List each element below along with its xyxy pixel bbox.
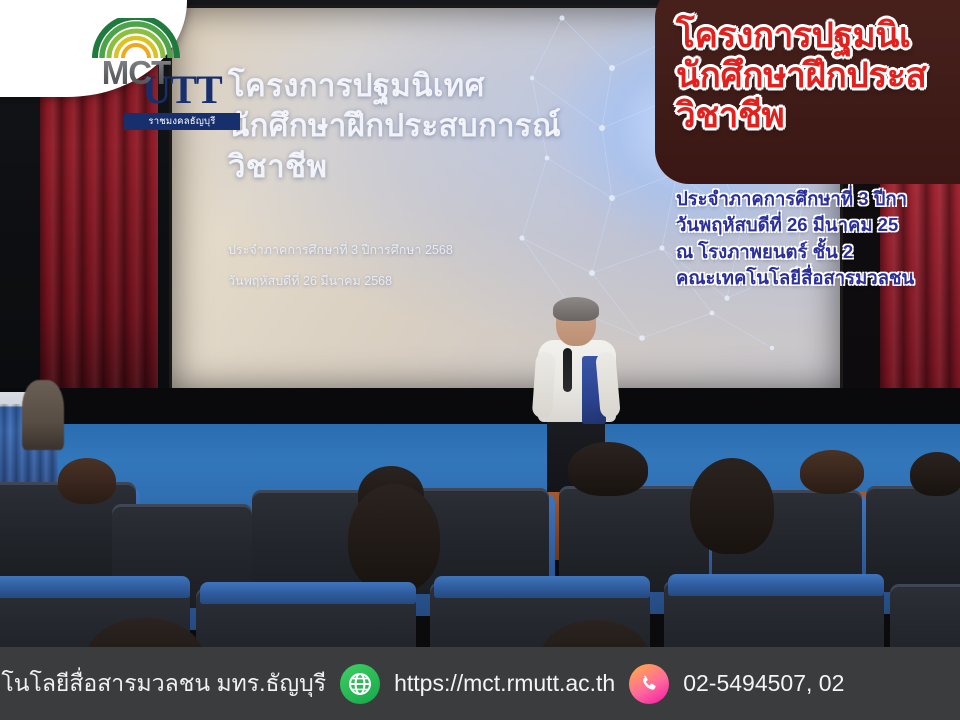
audience-head	[348, 484, 440, 592]
audience-head	[800, 450, 864, 494]
website-url[interactable]: https://mct.rmutt.ac.th	[394, 670, 615, 697]
seat-back	[0, 576, 190, 598]
phone-icon	[629, 664, 669, 704]
slide-text-block: โครงการปฐมนิเทศ นักศึกษาฝึกประสบการณ์ วิ…	[228, 66, 658, 297]
audience-head	[58, 458, 116, 504]
slide-title-line-2: นักศึกษาฝึกประสบการณ์	[228, 106, 658, 146]
headline-line-3: วิชาชีพ	[676, 96, 960, 135]
detail-line-1: ประจำภาคการศึกษาที่ 3 ปีกา	[676, 186, 960, 212]
microphone-icon	[563, 348, 572, 392]
seat-back	[668, 574, 884, 596]
detail-line-4: คณะเทคโนโลยีสื่อสารมวลชน	[676, 265, 960, 291]
event-detail-text: ประจำภาคการศึกษาที่ 3 ปีกา วันพฤหัสบดีที…	[676, 186, 960, 292]
stage-chair	[22, 380, 64, 450]
slide-title-line-3: วิชาชีพ	[228, 147, 658, 187]
mct-logo: MCT	[88, 18, 184, 92]
slide-subtitle-line-1: ประจำภาคการศึกษาที่ 3 ปีการศึกษา 2568	[228, 235, 658, 266]
speaker-hair	[553, 297, 599, 321]
seat-back	[434, 576, 650, 598]
screenshot-root: โครงการปฐมนิเทศ นักศึกษาฝึกประสบการณ์ วิ…	[0, 0, 960, 720]
headline-line-1: โครงการปฐมนิเ	[676, 16, 960, 55]
slide-subtitle-line-2: วันพฤหัสบดีที่ 26 มีนาคม 2568	[228, 266, 658, 297]
detail-line-3: ณ โรงภาพยนตร์ ชั้น 2	[676, 239, 960, 265]
audience-seating	[0, 470, 960, 670]
bottom-contact-bar: คโนโลยีสื่อสารมวลชน มทร.ธัญบุรี https://…	[0, 647, 960, 720]
slide-title-line-1: โครงการปฐมนิเทศ	[228, 66, 658, 106]
stage-apron	[0, 388, 960, 426]
audience-head	[690, 458, 774, 554]
slide-title: โครงการปฐมนิเทศ นักศึกษาฝึกประสบการณ์ วิ…	[228, 66, 658, 187]
audience-head	[910, 452, 960, 496]
headline-line-2: นักศึกษาฝึกประส	[676, 56, 960, 95]
organization-name: คโนโลยีสื่อสารมวลชน มทร.ธัญบุรี	[0, 666, 326, 702]
seat-back	[200, 582, 416, 604]
rmutt-subtitle: ราชมงคลธัญบุรี	[124, 113, 240, 130]
headline-text: โครงการปฐมนิเ นักศึกษาฝึกประส วิชาชีพ	[676, 16, 960, 137]
mct-arc-icon	[89, 18, 183, 60]
slide-subtitle: ประจำภาคการศึกษาที่ 3 ปีการศึกษา 2568 วั…	[228, 235, 658, 298]
phone-number[interactable]: 02-5494507, 02	[683, 670, 844, 697]
globe-icon	[340, 664, 380, 704]
detail-line-2: วันพฤหัสบดีที่ 26 มีนาคม 25	[676, 212, 960, 238]
audience-head	[568, 442, 648, 496]
